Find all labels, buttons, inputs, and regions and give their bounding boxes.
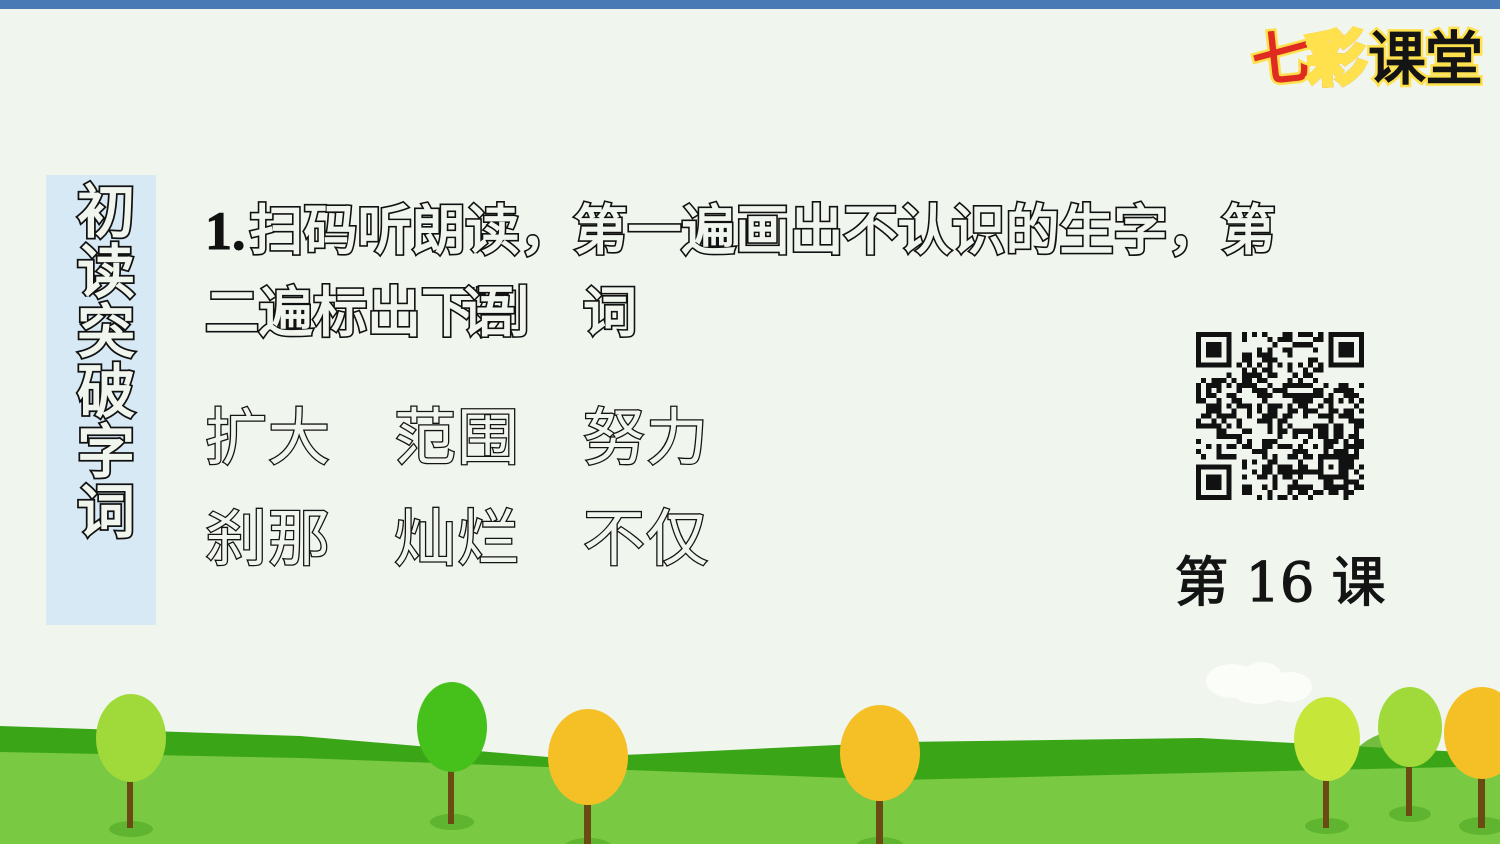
logo-char-cai: 彩 — [1305, 28, 1366, 90]
logo-char-qi: 七 — [1249, 27, 1312, 91]
overlap-glyph-yu: 语 — [461, 272, 515, 354]
instruction-text: 1.扫码听朗读，第一遍画出不认识的生字，第 二遍标出下列语词 — [205, 190, 1400, 354]
top-accent-bar — [0, 0, 1500, 9]
audio-qr-code[interactable] — [1196, 332, 1364, 500]
instruction-line-2-suffix: 词 — [583, 281, 637, 344]
cloud-icon — [1206, 662, 1312, 704]
scenery-illustration — [0, 654, 1500, 844]
instruction-number: 1. — [205, 201, 246, 261]
instruction-line-1: 扫码听朗读，第一遍画出不认识的生字，第 — [250, 199, 1276, 262]
section-tab: 初读突破字词 — [46, 175, 156, 625]
footer-scenery — [0, 654, 1500, 844]
instruction-overlapped-glyphs: 列语 — [475, 272, 583, 354]
section-tab-label: 初读突破字词 — [71, 181, 131, 541]
instruction-line-2-prefix: 二遍标出下 — [205, 281, 475, 344]
logo-text-ketang: 课堂 — [1368, 30, 1482, 88]
brand-logo: 七 彩 课堂 — [1252, 16, 1482, 102]
lesson-label: 第 16 课 — [1160, 538, 1400, 617]
qr-code-image — [1196, 332, 1364, 500]
